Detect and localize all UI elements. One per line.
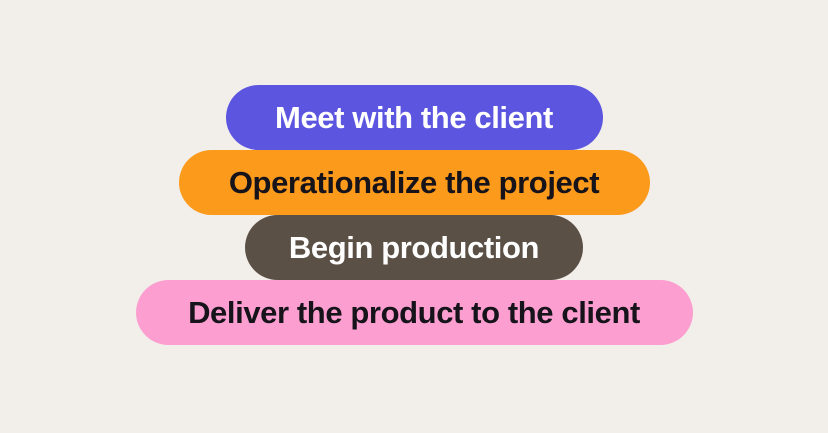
process-step-2[interactable]: Operationalize the project [179, 150, 650, 215]
diagram-canvas: Meet with the client Operationalize the … [0, 0, 828, 433]
process-step-list: Meet with the client Operationalize the … [0, 85, 828, 345]
process-step-3-label: Begin production [289, 232, 539, 263]
process-step-1[interactable]: Meet with the client [226, 85, 603, 150]
process-step-4[interactable]: Deliver the product to the client [136, 280, 693, 345]
process-step-1-label: Meet with the client [275, 102, 553, 133]
process-step-3[interactable]: Begin production [245, 215, 583, 280]
process-step-4-label: Deliver the product to the client [188, 297, 640, 328]
process-step-2-label: Operationalize the project [229, 167, 599, 198]
